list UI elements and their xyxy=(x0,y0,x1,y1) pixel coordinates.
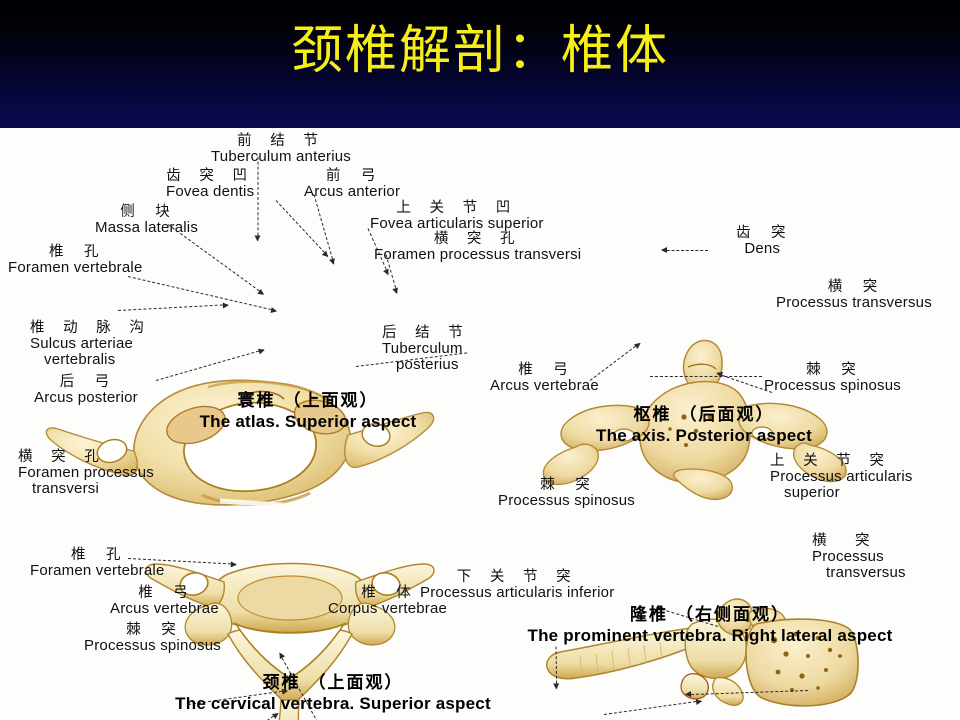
label-la: Foramen vertebrale xyxy=(8,260,143,276)
caption-prominent: 隆椎 （右侧面观） The prominent vertebra. Right … xyxy=(500,600,920,646)
label-foramen-vertebrale: 椎 孔 Foramen vertebrale xyxy=(8,245,143,276)
label-cn: 椎 动 脉 沟 xyxy=(30,321,151,336)
label-la2: posterius xyxy=(382,357,470,373)
label-la: Foramen vertebrale xyxy=(30,563,165,579)
label-la: Processus spinosus xyxy=(498,493,635,509)
label-la: Processus articularis xyxy=(770,469,913,485)
label-la: Corpus vertebrae xyxy=(328,601,447,617)
label-la: Processus transversus xyxy=(776,295,932,311)
caption-la: The atlas. Superior aspect xyxy=(160,412,456,432)
label-cn: 棘 突 xyxy=(764,363,901,378)
label-la: Tuberculum xyxy=(382,341,470,357)
label-sulcus-arteriae-vertebralis: 椎 动 脉 沟 Sulcus arteriae vertebralis xyxy=(30,321,151,367)
label-la: Arcus posterior xyxy=(34,390,138,406)
slide: 颈椎解剖：椎体 xyxy=(0,0,960,720)
label-la: Processus articularis inferior xyxy=(420,585,614,601)
caption-cn: 枢椎 （后面观） xyxy=(534,400,874,425)
label-arcus-vertebrae-axis: 椎 弓 Arcus vertebrae xyxy=(490,363,599,394)
label-processus-articularis-inferior: 下 关 节 突 Processus articularis inferior xyxy=(420,570,614,601)
label-tuberculum-anterius: 前 结 节 Tuberculum anterius xyxy=(211,134,351,165)
caption-cn: 隆椎 （右侧面观） xyxy=(500,600,920,625)
label-la: Processus spinosus xyxy=(84,638,221,654)
label-la2: vertebralis xyxy=(30,352,151,368)
label-cn: 椎 弓 xyxy=(490,363,599,378)
label-fovea-dentis: 齿 突 凹 Fovea dentis xyxy=(166,169,254,200)
label-cn: 侧 块 xyxy=(95,205,198,220)
label-la: Sulcus arteriae xyxy=(30,336,151,352)
label-la: Foramen processus xyxy=(18,465,154,481)
label-cn: 齿 突 xyxy=(736,226,789,241)
caption-axis: 枢椎 （后面观） The axis. Posterior aspect xyxy=(534,400,874,446)
slide-header: 颈椎解剖：椎体 xyxy=(0,0,960,128)
label-la: Processus xyxy=(812,549,906,565)
label-foramen-processus-transversi-cervical: 横 突 孔 Foramen processus transversi xyxy=(18,450,154,496)
caption-atlas: 寰椎 （上面观） The atlas. Superior aspect xyxy=(160,386,456,432)
label-processus-transversus-prominent: 横 突 Processus transversus xyxy=(812,534,906,580)
label-cn: 后 弓 xyxy=(34,375,138,390)
label-cn: 棘 突 xyxy=(84,623,221,638)
label-la: Processus spinosus xyxy=(764,378,901,394)
label-dens: 齿 突 Dens xyxy=(736,226,789,257)
label-cn: 后 结 节 xyxy=(382,326,470,341)
label-cn: 横 突 xyxy=(812,534,906,549)
caption-cn: 颈椎 （上面观） xyxy=(128,668,538,693)
label-la: Foramen processus transversi xyxy=(374,247,581,263)
label-la: Tuberculum anterius xyxy=(211,149,351,165)
label-la2: superior xyxy=(770,485,913,501)
label-cn: 椎 弓 xyxy=(110,586,219,601)
label-cn: 齿 突 凹 xyxy=(166,169,254,184)
caption-cn: 寰椎 （上面观） xyxy=(160,386,456,411)
label-la: Arcus anterior xyxy=(304,184,400,200)
anatomy-plate: 前 结 节 Tuberculum anterius 齿 突 凹 Fovea de… xyxy=(0,128,960,720)
label-cn: 椎 孔 xyxy=(8,245,143,260)
label-cn: 下 关 节 突 xyxy=(420,570,614,585)
label-processus-spinosus-cervical: 棘 突 Processus spinosus xyxy=(84,623,221,654)
label-la: Arcus vertebrae xyxy=(490,378,599,394)
leader-line xyxy=(662,250,708,251)
label-cn: 横 突 孔 xyxy=(374,232,581,247)
label-cn: 椎 孔 xyxy=(30,548,165,563)
page-title: 颈椎解剖：椎体 xyxy=(0,18,960,84)
label-la: Dens xyxy=(736,241,789,257)
label-la: Fovea articularis superior xyxy=(370,216,544,232)
label-processus-spinosus-axis: 棘 突 Processus spinosus xyxy=(764,363,901,394)
label-cn: 前 结 节 xyxy=(211,134,351,149)
label-massa-lateralis: 侧 块 Massa lateralis xyxy=(95,205,198,236)
label-arcus-anterior: 前 弓 Arcus anterior xyxy=(304,169,400,200)
label-cn: 前 弓 xyxy=(304,169,400,184)
label-cn: 横 突 孔 xyxy=(18,450,154,465)
label-cn: 横 突 xyxy=(776,280,932,295)
label-processus-transversus-axis: 横 突 Processus transversus xyxy=(776,280,932,311)
label-arcus-vertebrae-cervical: 椎 弓 Arcus vertebrae xyxy=(110,586,219,617)
label-la2: transversus xyxy=(812,565,906,581)
caption-cervical: 颈椎 （上面观） The cervical vertebra. Superior… xyxy=(128,668,538,714)
label-arcus-posterior: 后 弓 Arcus posterior xyxy=(34,375,138,406)
caption-la: The axis. Posterior aspect xyxy=(534,426,874,446)
caption-la: The prominent vertebra. Right lateral as… xyxy=(500,626,920,646)
label-foramen-processus-transversi: 横 突 孔 Foramen processus transversi xyxy=(374,232,581,263)
label-foramen-vertebrale-cervical: 椎 孔 Foramen vertebrale xyxy=(30,548,165,579)
label-cn: 上 关 节 突 xyxy=(770,454,913,469)
label-tuberculum-posterius: 后 结 节 Tuberculum posterius xyxy=(382,326,470,372)
label-la: Massa lateralis xyxy=(95,220,198,236)
label-cn: 上 关 节 凹 xyxy=(370,201,544,216)
label-fovea-articularis-superior: 上 关 节 凹 Fovea articularis superior xyxy=(370,201,544,232)
label-processus-articularis-superior: 上 关 节 突 Processus articularis superior xyxy=(770,454,913,500)
label-la2: transversi xyxy=(18,481,154,497)
label-la: Arcus vertebrae xyxy=(110,601,219,617)
leader-line xyxy=(650,376,762,377)
label-la: Fovea dentis xyxy=(166,184,254,200)
label-processus-spinosus-prominent: 棘 突 Processus spinosus xyxy=(498,478,635,509)
caption-la: The cervical vertebra. Superior aspect xyxy=(128,694,538,714)
label-cn: 棘 突 xyxy=(498,478,635,493)
leader-line xyxy=(258,157,259,241)
